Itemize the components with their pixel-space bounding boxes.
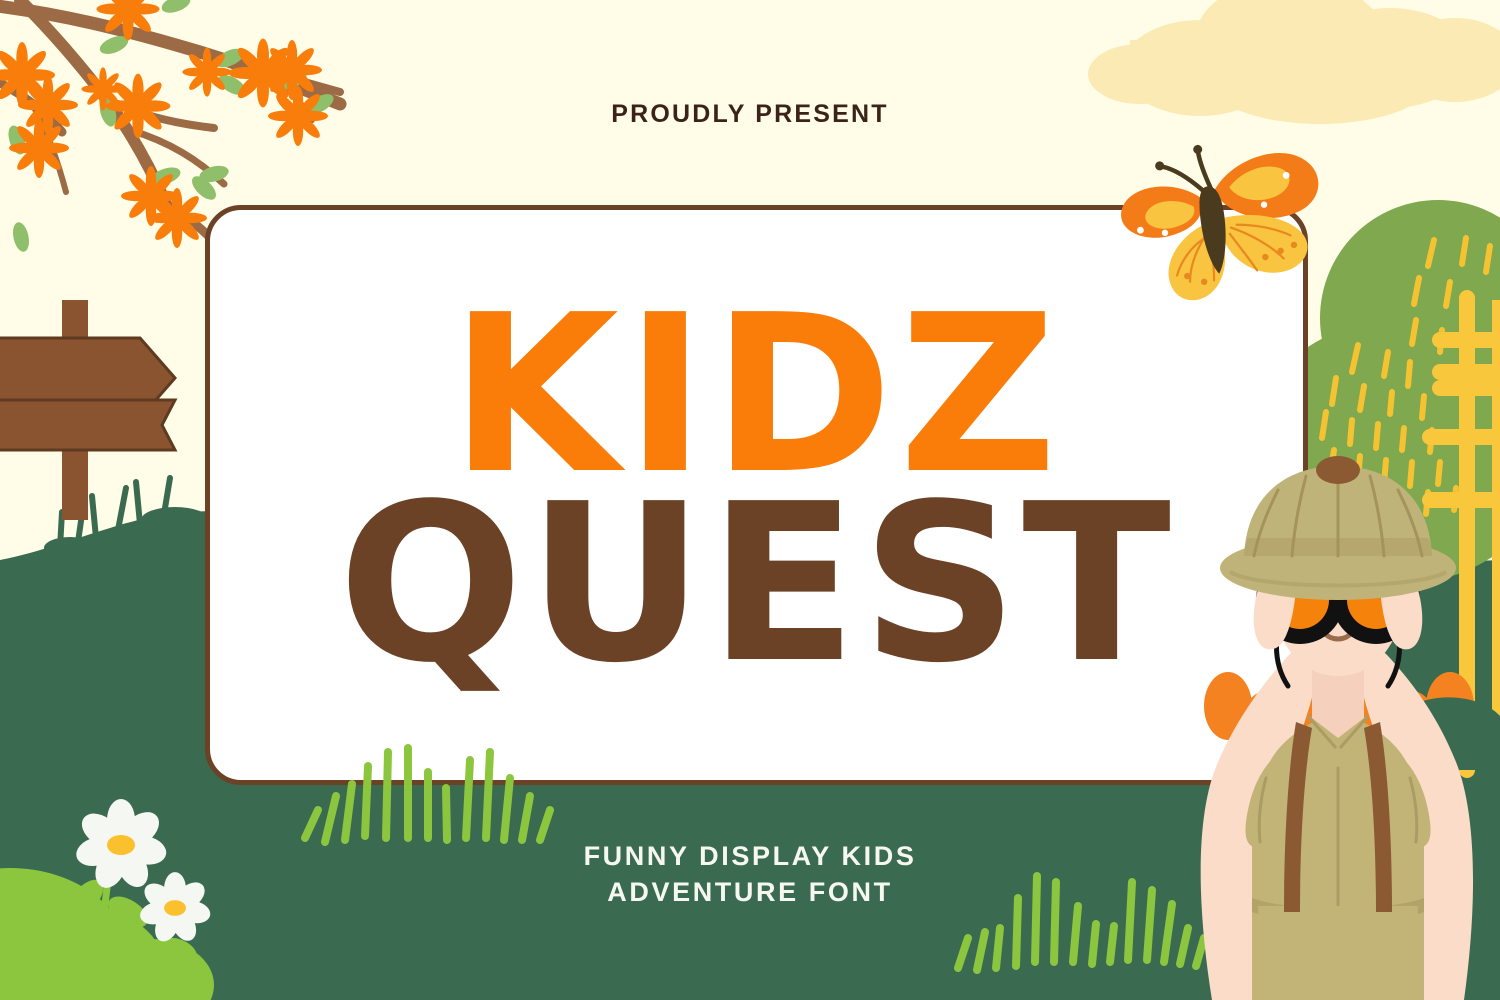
pith-helmet-shape <box>1220 456 1456 600</box>
explorer-character <box>1201 456 1500 1000</box>
explorer-layer <box>0 0 1500 1000</box>
poster-canvas: PROUDLY PRESENT KIDZ QUEST <box>0 0 1500 1000</box>
